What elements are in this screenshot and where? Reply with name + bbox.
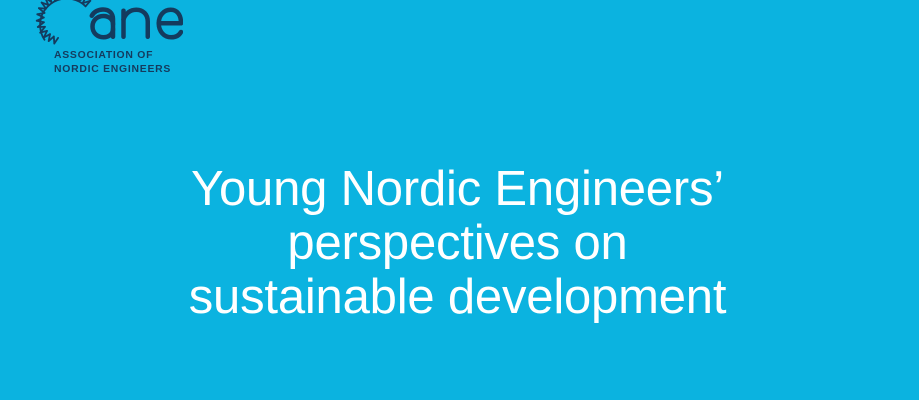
- ane-logo: ASSOCIATION OF NORDIC ENGINEERS: [33, 0, 223, 84]
- slide-title-line-2: perspectives on: [0, 216, 919, 270]
- slide-title-line-3: sustainable development: [0, 270, 919, 324]
- ane-logomark-icon: [33, 0, 183, 50]
- logo-tagline: ASSOCIATION OF NORDIC ENGINEERS: [54, 49, 219, 76]
- title-slide: ASSOCIATION OF NORDIC ENGINEERS Young No…: [0, 0, 919, 400]
- slide-title: Young Nordic Engineers’ perspectives on …: [0, 162, 919, 324]
- logo-tagline-line-2: NORDIC ENGINEERS: [54, 63, 219, 77]
- slide-title-line-1: Young Nordic Engineers’: [0, 162, 919, 216]
- logo-tagline-line-1: ASSOCIATION OF: [54, 49, 219, 63]
